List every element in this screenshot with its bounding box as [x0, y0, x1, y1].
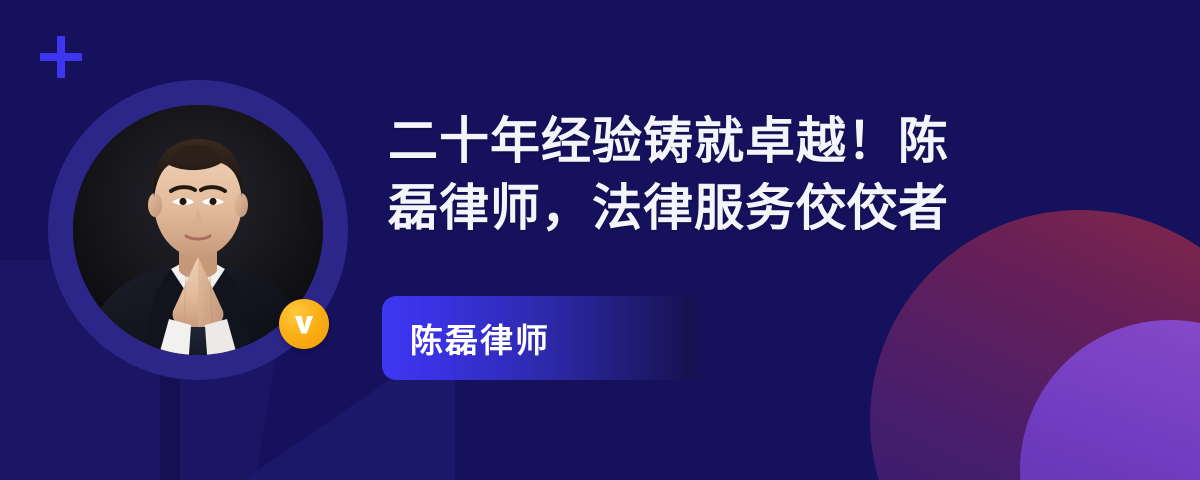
- page-title: 二十年经验铸就卓越！陈 磊律师，法律服务佼佼者: [388, 108, 1178, 242]
- headline-block: 二十年经验铸就卓越！陈 磊律师，法律服务佼佼者: [388, 108, 1178, 242]
- plus-icon: [40, 36, 82, 78]
- promo-banner: 二十年经验铸就卓越！陈 磊律师，法律服务佼佼者 陈磊律师: [0, 0, 1200, 480]
- avatar: [73, 105, 323, 355]
- lawyer-name-button[interactable]: 陈磊律师: [382, 296, 712, 380]
- verified-v-icon: [279, 299, 329, 349]
